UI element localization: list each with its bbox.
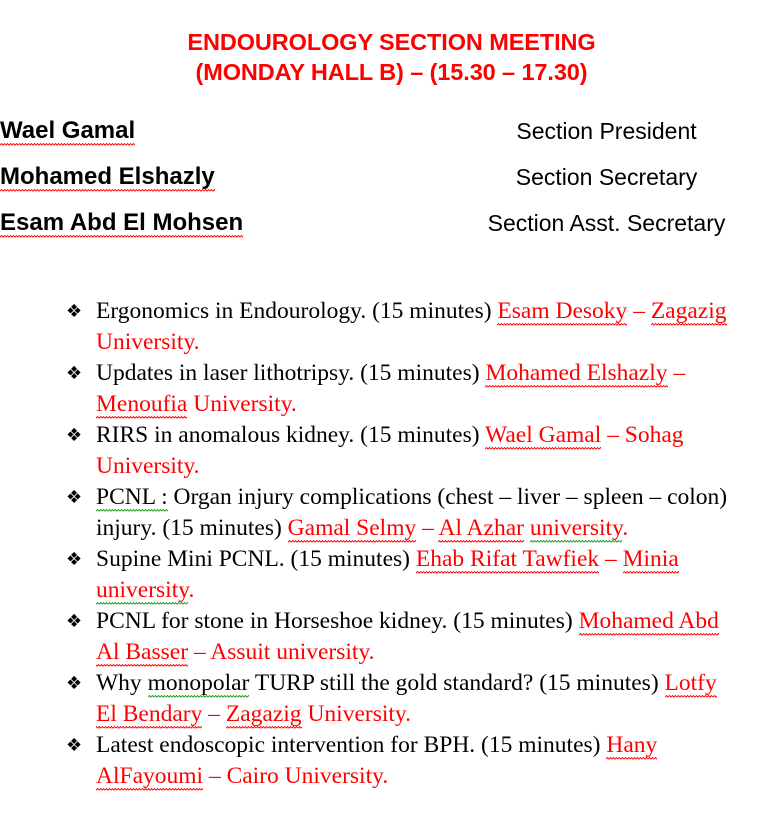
agenda-topic-grammar: monopolar: [148, 670, 250, 698]
agenda-list: ❖ Ergonomics in Endourology. (15 minutes…: [0, 296, 783, 792]
agenda-affiliation-tail: University.: [96, 453, 200, 479]
agenda-affiliation-end: .: [188, 577, 194, 603]
officer-name-cell: Esam Abd El Mohsen: [0, 200, 430, 246]
agenda-separator: –: [203, 763, 227, 789]
diamond-bullet-icon: ❖: [66, 358, 82, 389]
agenda-speaker: Wael Gamal: [485, 422, 601, 450]
agenda-affiliation-extra: university: [96, 577, 188, 605]
agenda-separator: –: [599, 546, 623, 572]
agenda-separator: –: [202, 701, 226, 727]
officer-name-cell: Wael Gamal: [0, 108, 430, 154]
agenda-separator: –: [668, 360, 686, 386]
agenda-affiliation: Sohag: [625, 422, 684, 448]
agenda-topic: TURP still the gold standard? (15 minute…: [249, 670, 664, 696]
agenda-affiliation-tail: University.: [302, 701, 411, 727]
agenda-topic-prefix: PCNL :: [96, 484, 168, 512]
list-item: ❖ Ergonomics in Endourology. (15 minutes…: [0, 296, 783, 358]
agenda-affiliation: Zagazig: [651, 298, 727, 326]
agenda-affiliation: Assuit: [210, 639, 270, 665]
agenda-affiliation-end: .: [622, 515, 628, 541]
agenda-affiliation: Zagazig: [226, 701, 302, 729]
list-item: ❖ Latest endoscopic intervention for BPH…: [0, 730, 783, 792]
diamond-bullet-icon: ❖: [66, 730, 82, 761]
officer-role-cell: Section Asst. Secretary: [430, 200, 783, 246]
page-title-line-2: (MONDAY HALL B) – (15.30 – 17.30): [0, 57, 783, 87]
table-row: Mohamed Elshazly Section Secretary: [0, 154, 783, 200]
agenda-topic-prefix: Why: [96, 670, 148, 696]
agenda-affiliation: Minia: [623, 546, 679, 574]
diamond-bullet-icon: ❖: [66, 482, 82, 513]
agenda-separator: –: [416, 515, 438, 541]
diamond-bullet-icon: ❖: [66, 420, 82, 451]
agenda-affiliation: Al Azhar: [438, 515, 524, 543]
table-row: Wael Gamal Section President: [0, 108, 783, 154]
officer-role-cell: Section Secretary: [430, 154, 783, 200]
agenda-topic: Latest endoscopic intervention for BPH. …: [96, 732, 606, 758]
officer-name: Mohamed Elshazly: [0, 163, 215, 192]
agenda-topic: Supine Mini PCNL. (15 minutes): [96, 546, 416, 572]
table-row: Esam Abd El Mohsen Section Asst. Secreta…: [0, 200, 783, 246]
list-item: ❖ PCNL : Organ injury complications (che…: [0, 482, 783, 544]
agenda-affiliation-tail: university.: [270, 639, 374, 665]
list-item: ❖ Why monopolar TURP still the gold stan…: [0, 668, 783, 730]
officer-role-cell: Section President: [430, 108, 783, 154]
officer-name-cell: Mohamed Elshazly: [0, 154, 430, 200]
list-item: ❖ Supine Mini PCNL. (15 minutes) Ehab Ri…: [0, 544, 783, 606]
agenda-affiliation-extra: university: [530, 515, 622, 543]
agenda-separator: –: [601, 422, 625, 448]
agenda-separator: –: [627, 298, 651, 324]
agenda-affiliation: Menoufia: [96, 391, 187, 419]
diamond-bullet-icon: ❖: [66, 296, 82, 327]
agenda-affiliation: Cairo: [227, 763, 279, 789]
officers-table: Wael Gamal Section President Mohamed Els…: [0, 108, 783, 246]
page-title-line-1: ENDOUROLOGY SECTION MEETING: [0, 27, 783, 57]
agenda-affiliation-tail: [524, 515, 530, 541]
diamond-bullet-icon: ❖: [66, 668, 82, 699]
list-item: ❖ PCNL for stone in Horseshoe kidney. (1…: [0, 606, 783, 668]
agenda-separator: –: [188, 639, 210, 665]
agenda-affiliation-tail: University.: [279, 763, 388, 789]
agenda-topic: Updates in laser lithotripsy. (15 minute…: [96, 360, 485, 386]
officer-name: Wael Gamal: [0, 117, 135, 146]
agenda-topic: PCNL for stone in Horseshoe kidney. (15 …: [96, 608, 579, 634]
agenda-speaker: Gamal Selmy: [288, 515, 417, 543]
diamond-bullet-icon: ❖: [66, 606, 82, 637]
page-title: ENDOUROLOGY SECTION MEETING (MONDAY HALL…: [0, 0, 783, 87]
agenda-affiliation-tail: University.: [187, 391, 296, 417]
agenda-topic: Ergonomics in Endourology. (15 minutes): [96, 298, 497, 324]
agenda-speaker: Esam Desoky: [497, 298, 627, 326]
officer-name: Esam Abd El Mohsen: [0, 209, 243, 238]
agenda-speaker: Ehab Rifat Tawfiek: [416, 546, 599, 574]
diamond-bullet-icon: ❖: [66, 544, 82, 575]
list-item: ❖ RIRS in anomalous kidney. (15 minutes)…: [0, 420, 783, 482]
agenda-topic: RIRS in anomalous kidney. (15 minutes): [96, 422, 485, 448]
agenda-affiliation-tail: University.: [96, 329, 200, 355]
list-item: ❖ Updates in laser lithotripsy. (15 minu…: [0, 358, 783, 420]
agenda-speaker: Mohamed Elshazly: [485, 360, 667, 388]
